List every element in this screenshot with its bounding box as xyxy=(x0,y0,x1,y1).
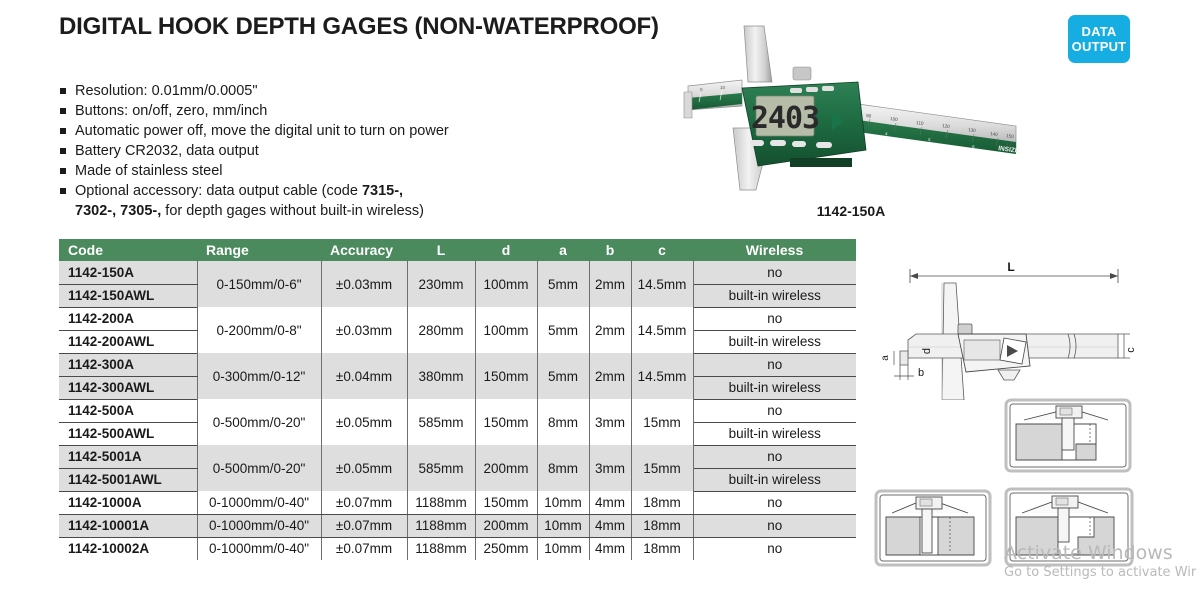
cell-wireless: no xyxy=(693,261,856,284)
dim-label-b: b xyxy=(918,367,924,379)
cell-c: 14.5mm xyxy=(631,307,693,353)
product-photo: 0 10 90 100 110 120 130 140 150 4 5 6 mm xyxy=(680,18,1020,198)
bullet-square-icon xyxy=(60,128,66,134)
cell-l: 230mm xyxy=(407,261,475,307)
cell-code: 1142-200A xyxy=(59,307,197,330)
cell-wireless: built-in wireless xyxy=(693,376,856,399)
col-header-d: d xyxy=(475,239,537,261)
data-output-badge-line2: OUTPUT xyxy=(1072,39,1127,54)
table-body: 1142-150A 0-150mm/0-6" ±0.03mm 230mm 100… xyxy=(59,261,856,560)
table-row: 1142-300A 0-300mm/0-12" ±0.04mm 380mm 15… xyxy=(59,353,856,376)
cell-l: 1188mm xyxy=(407,491,475,514)
cell-c: 15mm xyxy=(631,399,693,445)
feature-item: Buttons: on/off, zero, mm/inch xyxy=(60,102,620,122)
bullet-square-icon xyxy=(60,188,66,194)
brand-label: INSIZE xyxy=(998,145,1020,155)
specifications-table: Code Range Accuracy L d a b c Wireless 1… xyxy=(59,239,856,560)
cell-wireless: built-in wireless xyxy=(693,284,856,307)
cell-d: 100mm xyxy=(475,261,537,307)
cell-range: 0-500mm/0-20" xyxy=(197,445,321,491)
feature-continuation: 7302-, 7305-, for depth gages without bu… xyxy=(75,202,620,222)
feature-item: Resolution: 0.01mm/0.0005" xyxy=(60,82,620,102)
cell-wireless: no xyxy=(693,445,856,468)
dim-label-c: c xyxy=(1125,347,1137,353)
feature-list: Resolution: 0.01mm/0.0005" Buttons: on/o… xyxy=(60,82,620,222)
cell-range: 0-500mm/0-20" xyxy=(197,399,321,445)
feature-text: Battery CR2032, data output xyxy=(75,142,620,162)
feature-text: Automatic power off, move the digital un… xyxy=(75,122,620,142)
bullet-square-icon xyxy=(60,88,66,94)
dim-label-d: d xyxy=(921,348,933,354)
cell-d: 150mm xyxy=(475,491,537,514)
cell-accuracy: ±0.07mm xyxy=(321,514,407,537)
application-diagram-shoulder xyxy=(1004,487,1134,567)
cell-b: 4mm xyxy=(589,537,631,560)
cell-b: 2mm xyxy=(589,307,631,353)
cell-d: 200mm xyxy=(475,514,537,537)
cell-c: 18mm xyxy=(631,537,693,560)
application-diagram-step xyxy=(1004,398,1132,473)
col-header-l: L xyxy=(407,239,475,261)
table-row: 1142-5001A 0-500mm/0-20" ±0.05mm 585mm 2… xyxy=(59,445,856,468)
col-header-range: Range xyxy=(197,239,321,261)
feature-continuation-rest: for depth gages without built-in wireles… xyxy=(161,203,424,219)
col-header-code: Code xyxy=(59,239,197,261)
cell-code: 1142-5001A xyxy=(59,445,197,468)
table-row: 1142-1000A 0-1000mm/0-40" ±0.07mm 1188mm… xyxy=(59,491,856,514)
feature-item: Automatic power off, move the digital un… xyxy=(60,122,620,142)
dimension-diagram: L d a b c xyxy=(880,252,1142,400)
cell-a: 8mm xyxy=(537,399,589,445)
svg-text:10: 10 xyxy=(720,85,726,90)
dim-label-a: a xyxy=(880,355,891,361)
svg-text:110: 110 xyxy=(916,120,924,126)
lcd-value: 2403 xyxy=(751,101,819,136)
table-row: 1142-10002A 0-1000mm/0-40" ±0.07mm 1188m… xyxy=(59,537,856,560)
cell-b: 2mm xyxy=(589,353,631,399)
cell-d: 250mm xyxy=(475,537,537,560)
data-output-badge: DATA OUTPUT xyxy=(1068,15,1130,63)
cell-accuracy: ±0.07mm xyxy=(321,491,407,514)
feature-code-7315: 7315-, xyxy=(362,183,403,199)
bullet-square-icon xyxy=(60,108,66,114)
cell-b: 2mm xyxy=(589,261,631,307)
cell-code: 1142-10001A xyxy=(59,514,197,537)
cell-l: 1188mm xyxy=(407,514,475,537)
page-title: DIGITAL HOOK DEPTH GAGES (NON-WATERPROOF… xyxy=(59,13,659,41)
cell-code: 1142-300AWL xyxy=(59,376,197,399)
cell-accuracy: ±0.05mm xyxy=(321,445,407,491)
cell-a: 5mm xyxy=(537,261,589,307)
cell-l: 280mm xyxy=(407,307,475,353)
cell-code: 1142-10002A xyxy=(59,537,197,560)
cell-code: 1142-150A xyxy=(59,261,197,284)
feature-item: Made of stainless steel xyxy=(60,162,620,182)
cell-a: 10mm xyxy=(537,537,589,560)
cell-wireless: no xyxy=(693,514,856,537)
cell-code: 1142-200AWL xyxy=(59,330,197,353)
bullet-square-icon xyxy=(60,148,66,154)
product-caption: 1142-150A xyxy=(726,203,976,219)
table-row: 1142-500A 0-500mm/0-20" ±0.05mm 585mm 15… xyxy=(59,399,856,422)
cell-b: 3mm xyxy=(589,445,631,491)
cell-code: 1142-500A xyxy=(59,399,197,422)
cell-code: 1142-500AWL xyxy=(59,422,197,445)
diagram-digital-head xyxy=(958,324,1030,380)
cell-range: 0-200mm/0-8" xyxy=(197,307,321,353)
cell-wireless: built-in wireless xyxy=(693,422,856,445)
cell-b: 4mm xyxy=(589,491,631,514)
feature-text: Made of stainless steel xyxy=(75,162,620,182)
cell-code: 1142-150AWL xyxy=(59,284,197,307)
measuring-beam: 90 100 110 120 130 140 150 4 5 6 mm xyxy=(858,104,1016,154)
cell-d: 150mm xyxy=(475,353,537,399)
feature-text: Resolution: 0.01mm/0.0005" xyxy=(75,82,620,102)
application-diagram-slot xyxy=(874,489,992,567)
cell-wireless: built-in wireless xyxy=(693,330,856,353)
cell-wireless: no xyxy=(693,399,856,422)
cell-l: 1188mm xyxy=(407,537,475,560)
cell-c: 18mm xyxy=(631,491,693,514)
cell-range: 0-300mm/0-12" xyxy=(197,353,321,399)
col-header-accuracy: Accuracy xyxy=(321,239,407,261)
cell-range: 0-1000mm/0-40" xyxy=(197,491,321,514)
diagram-hook xyxy=(900,351,908,365)
bullet-square-icon xyxy=(60,168,66,174)
feature-text-lead: Optional accessory: data output cable (c… xyxy=(75,183,362,199)
cell-a: 10mm xyxy=(537,491,589,514)
col-header-c: c xyxy=(631,239,693,261)
depth-blade-upper xyxy=(744,26,772,82)
cell-code: 1142-1000A xyxy=(59,491,197,514)
cell-wireless: no xyxy=(693,491,856,514)
feature-item: Battery CR2032, data output xyxy=(60,142,620,162)
table-row: 1142-10001A 0-1000mm/0-40" ±0.07mm 1188m… xyxy=(59,514,856,537)
cell-wireless: built-in wireless xyxy=(693,468,856,491)
cell-l: 585mm xyxy=(407,399,475,445)
cell-range: 0-1000mm/0-40" xyxy=(197,514,321,537)
cell-accuracy: ±0.03mm xyxy=(321,261,407,307)
cell-d: 100mm xyxy=(475,307,537,353)
col-header-b: b xyxy=(589,239,631,261)
cell-c: 14.5mm xyxy=(631,261,693,307)
cell-range: 0-150mm/0-6" xyxy=(197,261,321,307)
thumb-roller xyxy=(793,67,811,80)
cell-b: 3mm xyxy=(589,399,631,445)
cell-wireless: no xyxy=(693,537,856,560)
feature-text: Buttons: on/off, zero, mm/inch xyxy=(75,102,620,122)
table-row: 1142-150A 0-150mm/0-6" ±0.03mm 230mm 100… xyxy=(59,261,856,284)
cell-wireless: no xyxy=(693,353,856,376)
cell-accuracy: ±0.07mm xyxy=(321,537,407,560)
table-header-row: Code Range Accuracy L d a b c Wireless xyxy=(59,239,856,261)
feature-item: Optional accessory: data output cable (c… xyxy=(60,182,620,202)
cell-accuracy: ±0.04mm xyxy=(321,353,407,399)
cell-d: 200mm xyxy=(475,445,537,491)
cell-code: 1142-300A xyxy=(59,353,197,376)
cell-accuracy: ±0.03mm xyxy=(321,307,407,353)
cell-c: 18mm xyxy=(631,514,693,537)
col-header-wireless: Wireless xyxy=(693,239,856,261)
cell-a: 10mm xyxy=(537,514,589,537)
data-output-badge-line1: DATA xyxy=(1082,24,1117,39)
cell-a: 5mm xyxy=(537,353,589,399)
table-row: 1142-200A 0-200mm/0-8" ±0.03mm 280mm 100… xyxy=(59,307,856,330)
cell-c: 14.5mm xyxy=(631,353,693,399)
cell-wireless: no xyxy=(693,307,856,330)
cell-d: 150mm xyxy=(475,399,537,445)
cell-a: 5mm xyxy=(537,307,589,353)
feature-text: Optional accessory: data output cable (c… xyxy=(75,182,620,202)
feature-code-7302-7305: 7302-, 7305-, xyxy=(75,203,161,219)
dim-label-L: L xyxy=(1007,260,1014,274)
cell-l: 585mm xyxy=(407,445,475,491)
cell-c: 15mm xyxy=(631,445,693,491)
cell-b: 4mm xyxy=(589,514,631,537)
cell-l: 380mm xyxy=(407,353,475,399)
col-header-a: a xyxy=(537,239,589,261)
cell-accuracy: ±0.05mm xyxy=(321,399,407,445)
cell-code: 1142-5001AWL xyxy=(59,468,197,491)
cell-range: 0-1000mm/0-40" xyxy=(197,537,321,560)
base-arm: 0 10 xyxy=(684,80,742,118)
cell-a: 8mm xyxy=(537,445,589,491)
